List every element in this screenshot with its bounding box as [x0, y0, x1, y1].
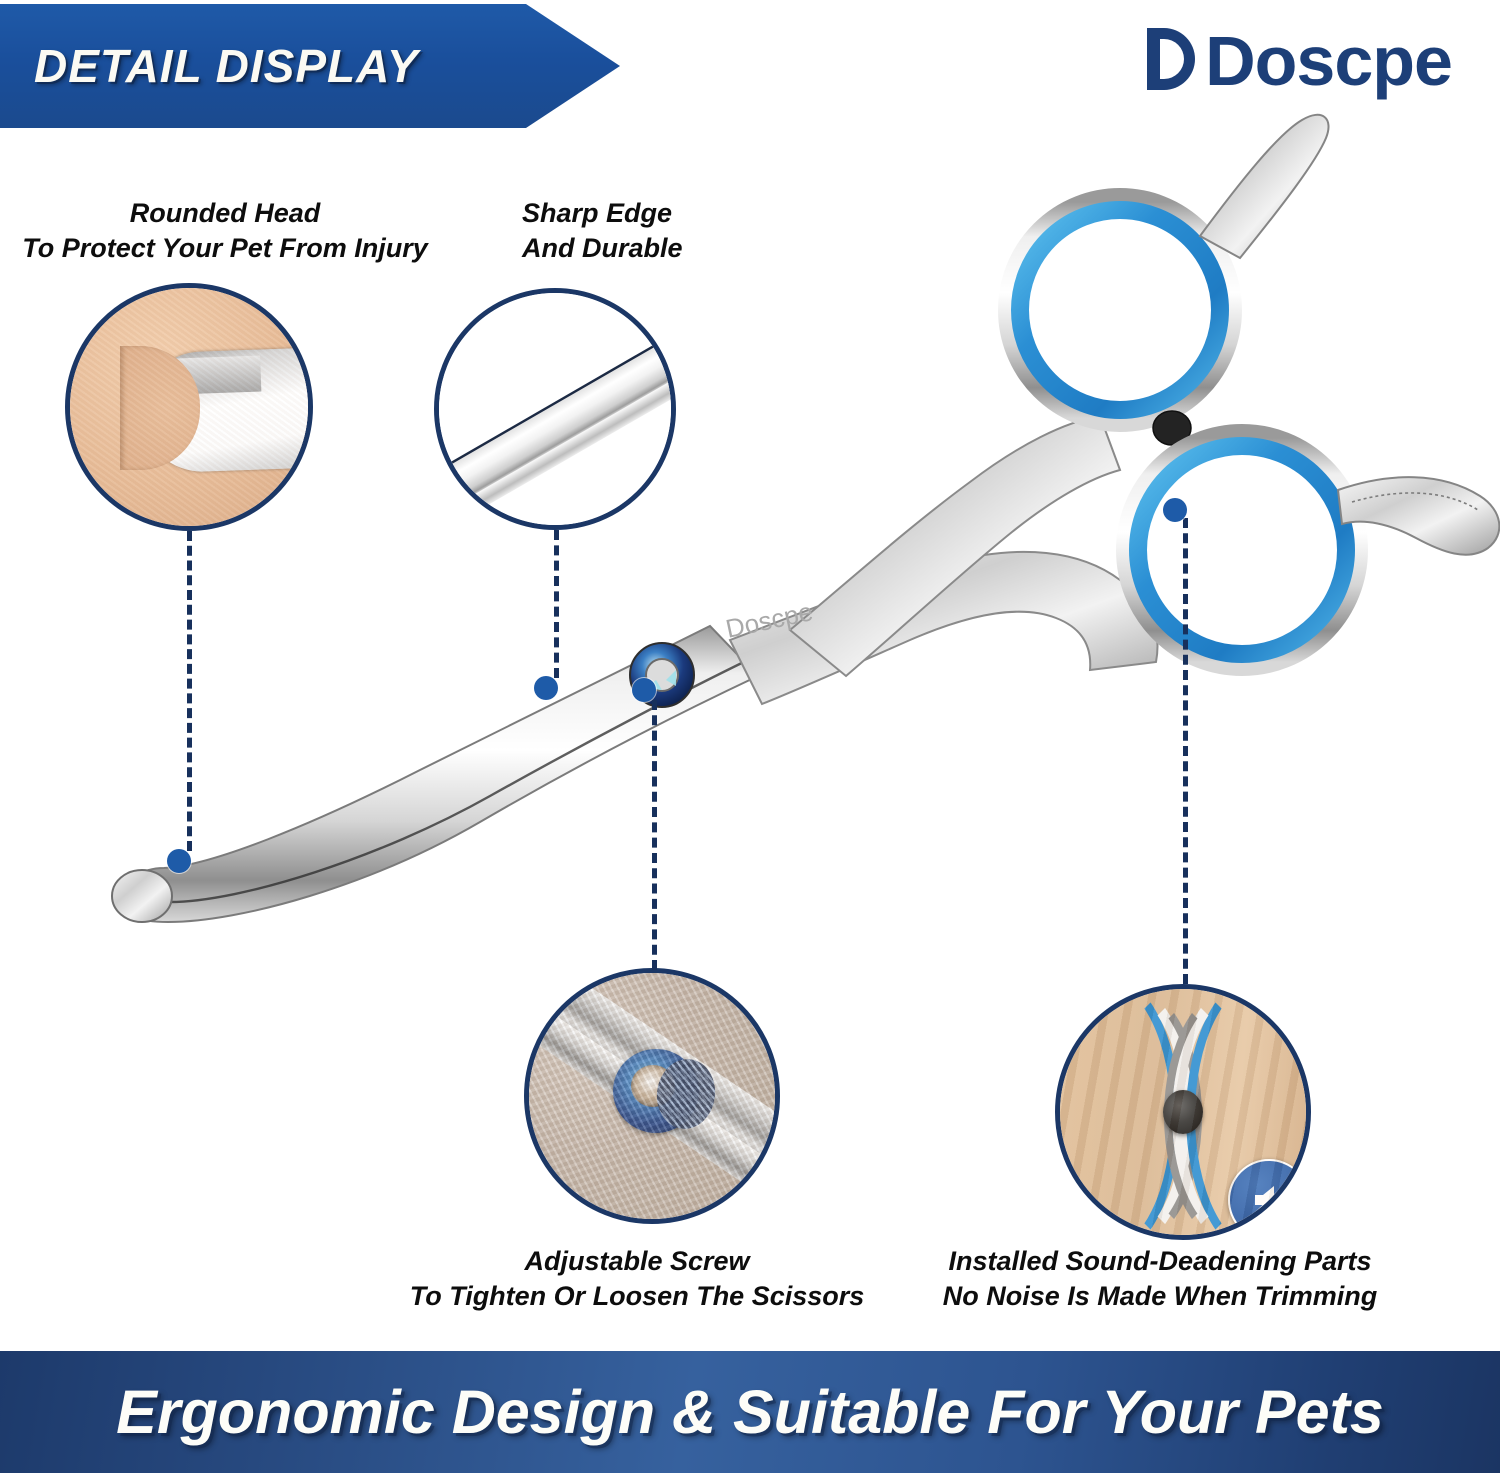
sound-damper-photo: [1060, 989, 1306, 1235]
screw-knurl-shape: [652, 1055, 719, 1132]
footer-tagline: Ergonomic Design & Suitable For Your Pet…: [116, 1377, 1384, 1447]
rounded-tip-photo: [70, 288, 308, 526]
brand-logo: Doscpe: [1147, 16, 1452, 106]
callout-title: Adjustable Screw: [392, 1244, 882, 1279]
anchor-dot-sound-deadening: [1163, 498, 1187, 522]
screw-blade-shape: [524, 968, 780, 1192]
lower-handle-ring: [1130, 438, 1354, 662]
detail-inset-sharp-edge[interactable]: [434, 288, 676, 530]
right-grip-blue-arc: [1186, 984, 1311, 1240]
anchor-dot-adjustable-screw: [632, 678, 656, 702]
screw-head-shape: [613, 1049, 699, 1133]
banner-title: DETAIL DISPLAY: [0, 39, 419, 93]
right-grip-shadow-arc: [1164, 985, 1310, 1240]
skin-notch-shape: [120, 346, 200, 470]
callout-title: Sharp Edge: [522, 196, 862, 231]
callout-label-rounded-head: Rounded Head To Protect Your Pet From In…: [10, 196, 440, 265]
left-grip-blue-arc: [1055, 984, 1180, 1240]
d-monogram-icon: [1147, 25, 1203, 97]
callout-title: Rounded Head: [10, 196, 440, 231]
rubber-bumper-shape: [1163, 1090, 1203, 1134]
mute-speaker-icon: [1228, 1159, 1310, 1240]
callout-title: Installed Sound-Deadening Parts: [930, 1244, 1390, 1279]
detail-inset-sound-deadening[interactable]: [1055, 984, 1311, 1240]
detail-display-page: DETAIL DISPLAY Doscpe: [0, 0, 1500, 1473]
callout-subtitle: And Durable: [522, 231, 862, 266]
blade-edge-shape: [434, 315, 676, 523]
brand-name: Doscpe: [1205, 26, 1452, 96]
blade-edge-photo: [439, 293, 671, 525]
detail-inset-rounded-head[interactable]: [65, 283, 313, 531]
left-grip-chrome-arc: [1055, 984, 1194, 1240]
right-grip-chrome-arc: [1172, 984, 1311, 1240]
callout-label-sound-deadening: Installed Sound-Deadening Parts No Noise…: [930, 1244, 1390, 1313]
callout-subtitle: No Noise Is Made When Trimming: [930, 1279, 1390, 1314]
callout-label-adjustable-screw: Adjustable Screw To Tighten Or Loosen Th…: [392, 1244, 882, 1313]
scissor-tip-shape: [140, 346, 313, 473]
leader-line-adjustable-screw: [652, 700, 657, 970]
upper-shank: [790, 416, 1120, 676]
pivot-screw-photo: [529, 973, 775, 1219]
anchor-dot-rounded-head: [167, 849, 191, 873]
anchor-dot-sharp-edge: [534, 676, 558, 700]
callout-subtitle: To Tighten Or Loosen The Scissors: [392, 1279, 882, 1314]
leader-line-sound-deadening: [1183, 518, 1188, 984]
upper-tang-hook: [1200, 115, 1329, 258]
callout-label-sharp-edge: Sharp Edge And Durable: [522, 196, 862, 265]
screw-blade-highlight: [528, 1010, 780, 1223]
leader-line-rounded-head: [187, 531, 192, 851]
callout-subtitle: To Protect Your Pet From Injury: [10, 231, 440, 266]
detail-inset-adjustable-screw[interactable]: [524, 968, 780, 1224]
left-grip-shadow-arc: [1056, 985, 1202, 1240]
footer-banner: Ergonomic Design & Suitable For Your Pet…: [0, 1351, 1500, 1473]
upper-handle-ring: [1012, 202, 1228, 418]
leader-line-sharp-edge: [554, 530, 559, 678]
rounded-blade-tip: [112, 870, 172, 922]
